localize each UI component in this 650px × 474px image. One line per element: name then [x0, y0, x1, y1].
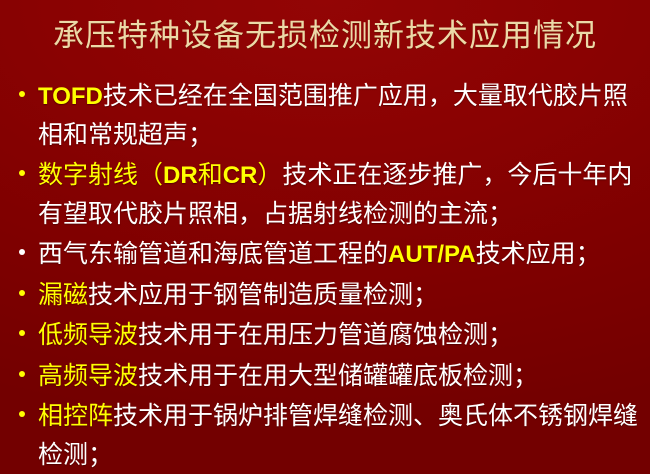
bullet-dot-icon — [19, 170, 25, 176]
highlight-term-suffix: ） — [257, 162, 282, 189]
highlight-term-cr: CR — [223, 162, 258, 189]
highlight-term: AUT/PA — [388, 241, 476, 268]
highlight-term-dr: DR — [163, 162, 198, 189]
list-item-text: 西气东输管道和海底管道工程的AUT/PA技术应用； — [38, 236, 644, 275]
list-item[interactable]: 数字射线（DR和CR）技术正在逐步推广，今后十年内有望取代胶片照相，占据射线检测… — [0, 157, 650, 234]
bullet-dot-icon — [19, 91, 25, 97]
list-item[interactable]: 西气东输管道和海底管道工程的AUT/PA技术应用； — [0, 236, 650, 275]
highlight-term: 高频导波 — [38, 363, 138, 390]
bullet-dot-icon — [19, 411, 25, 417]
bullet-dot-icon — [19, 330, 25, 336]
list-item-body: 技术应用于钢管制造质量检测； — [88, 282, 438, 309]
list-item-text: 高频导波技术用于在用大型储罐罐底板检测； — [38, 358, 644, 397]
list-item[interactable]: 低频导波技术用于在用压力管道腐蚀检测； — [0, 317, 650, 356]
list-item-body: 技术用于在用压力管道腐蚀检测； — [138, 322, 513, 349]
list-item-text: TOFD技术已经在全国范围推广应用，大量取代胶片照相和常规超声； — [38, 78, 644, 155]
highlight-term: 低频导波 — [38, 322, 138, 349]
page-title: 承压特种设备无损检测新技术应用情况 — [0, 16, 650, 56]
bullet-list: TOFD技术已经在全国范围推广应用，大量取代胶片照相和常规超声； 数字射线（DR… — [0, 78, 650, 474]
highlight-term-prefix: 数字射线（ — [38, 162, 163, 189]
list-item-text: 数字射线（DR和CR）技术正在逐步推广，今后十年内有望取代胶片照相，占据射线检测… — [38, 157, 644, 234]
bullet-dot-icon — [19, 249, 25, 255]
list-item-body: 技术应用； — [476, 241, 601, 268]
presentation-slide: 承压特种设备无损检测新技术应用情况 TOFD技术已经在全国范围推广应用，大量取代… — [0, 0, 650, 474]
list-item-text: 低频导波技术用于在用压力管道腐蚀检测； — [38, 317, 644, 356]
bullet-dot-icon — [19, 290, 25, 296]
list-item[interactable]: 漏磁技术应用于钢管制造质量检测； — [0, 277, 650, 316]
highlight-term: 相控阵 — [38, 403, 113, 430]
list-item-text: 漏磁技术应用于钢管制造质量检测； — [38, 277, 644, 316]
highlight-term: TOFD — [38, 83, 103, 110]
highlight-term-conjunction: 和 — [198, 162, 223, 189]
list-item-body: 技术已经在全国范围推广应用，大量取代胶片照相和常规超声； — [38, 83, 628, 149]
list-item-text: 相控阵技术用于锅炉排管焊缝检测、奥氏体不锈钢焊缝检测； — [38, 398, 644, 474]
list-item[interactable]: 高频导波技术用于在用大型储罐罐底板检测； — [0, 358, 650, 397]
list-item-body: 技术用于锅炉排管焊缝检测、奥氏体不锈钢焊缝检测； — [38, 403, 638, 469]
bullet-dot-icon — [19, 371, 25, 377]
list-item[interactable]: 相控阵技术用于锅炉排管焊缝检测、奥氏体不锈钢焊缝检测； — [0, 398, 650, 474]
highlight-term: 漏磁 — [38, 282, 88, 309]
list-item[interactable]: TOFD技术已经在全国范围推广应用，大量取代胶片照相和常规超声； — [0, 78, 650, 155]
list-item-body: 技术用于在用大型储罐罐底板检测； — [138, 363, 538, 390]
list-item-body-prefix: 西气东输管道和海底管道工程的 — [38, 241, 388, 268]
